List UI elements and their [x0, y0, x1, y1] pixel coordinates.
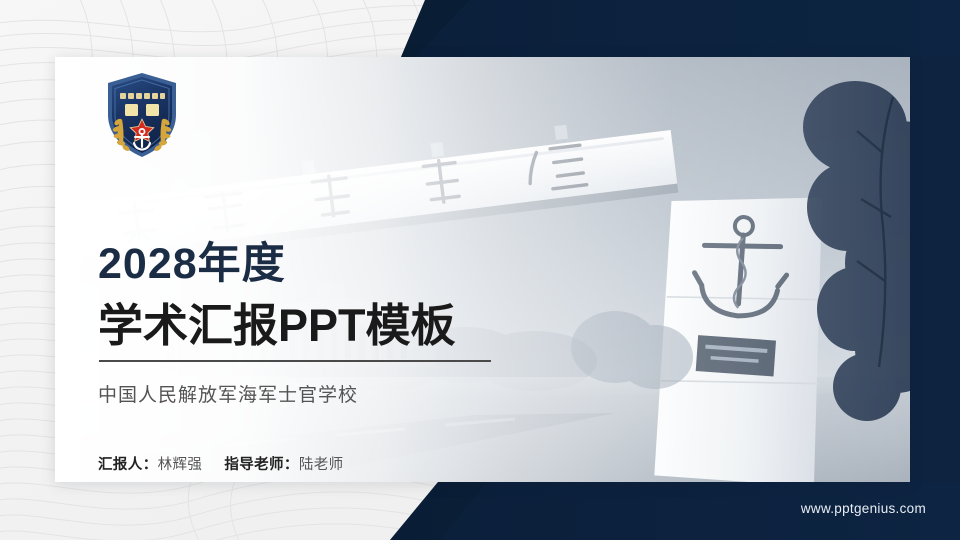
- footer-website-url: www.pptgenius.com: [801, 501, 926, 516]
- presenter-label: 汇报人：: [98, 457, 158, 473]
- pla-navy-emblem-icon: [98, 69, 186, 161]
- title-divider: [99, 360, 491, 362]
- advisor-label: 指导老师：: [224, 457, 299, 473]
- presenter-meta: 汇报人：林辉强指导老师：陆老师: [98, 453, 344, 474]
- presenter-name: 林辉强: [158, 457, 203, 473]
- page-title: 学术汇报PPT模板: [98, 303, 456, 348]
- content-card: 2028年度 学术汇报PPT模板 中国人民解放军海军士官学校 汇报人：林辉强指导…: [55, 57, 910, 482]
- advisor-name: 陆老师: [299, 457, 344, 473]
- title-year: 2028年度: [98, 243, 286, 286]
- slide-root: 2028年度 学术汇报PPT模板 中国人民解放军海军士官学校 汇报人：林辉强指导…: [0, 0, 960, 540]
- title-block: 2028年度 学术汇报PPT模板 中国人民解放军海军士官学校 汇报人：林辉强指导…: [55, 57, 525, 482]
- subtitle-school-name: 中国人民解放军海军士官学校: [98, 380, 358, 407]
